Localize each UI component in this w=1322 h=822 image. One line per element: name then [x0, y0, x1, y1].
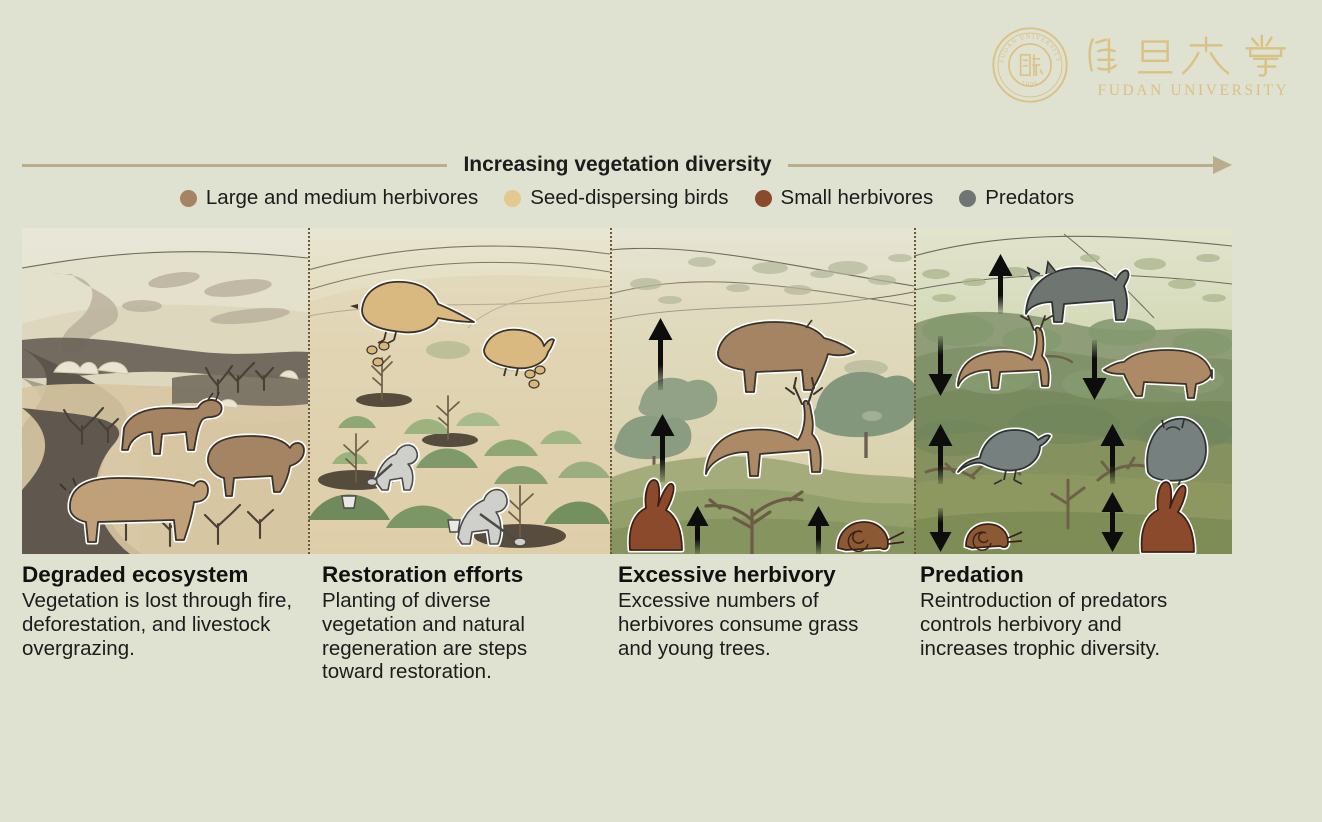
- axis-title: Increasing vegetation diversity: [447, 153, 787, 177]
- caption-predation: Predation Reintroduction of predators co…: [920, 562, 1220, 684]
- caption-body: Reintroduction of predators controls her…: [920, 589, 1192, 660]
- caption-heading: Excessive herbivory: [618, 562, 892, 588]
- panel-degraded-ecosystem: [22, 228, 308, 554]
- legend-label: Seed-dispersing birds: [530, 186, 728, 210]
- caption-restoration-efforts: Restoration efforts Planting of diverse …: [322, 562, 618, 684]
- arrow-head-icon: [1213, 156, 1232, 174]
- legend-item-predators: Predators: [959, 186, 1074, 210]
- panel-excessive-herbivory: [610, 228, 914, 554]
- legend-label: Small herbivores: [781, 186, 934, 210]
- university-english-name: FUDAN UNIVERSITY: [1097, 82, 1289, 100]
- legend-item-small-herbivores: Small herbivores: [755, 186, 934, 210]
- legend-item-seed-dispersing-birds: Seed-dispersing birds: [504, 186, 728, 210]
- panel-captions: Degraded ecosystem Vegetation is lost th…: [22, 562, 1232, 684]
- fudan-seal-icon: FUDAN UNIVERSITY 1905: [991, 26, 1069, 104]
- caption-degraded-ecosystem: Degraded ecosystem Vegetation is lost th…: [22, 562, 322, 684]
- legend-label: Large and medium herbivores: [206, 186, 478, 210]
- legend-item-large-herbivores: Large and medium herbivores: [180, 186, 478, 210]
- vegetation-diversity-axis: Increasing vegetation diversity: [22, 150, 1232, 180]
- caption-heading: Degraded ecosystem: [22, 562, 294, 588]
- chinese-name-glyphs: [1083, 30, 1304, 80]
- caption-body: Planting of diverse vegetation and natur…: [322, 589, 590, 684]
- fudan-wordmark: FUDAN UNIVERSITY: [1083, 30, 1304, 100]
- caption-heading: Restoration efforts: [322, 562, 590, 588]
- panel-divider-2: [610, 228, 612, 554]
- axis-line-left: [22, 164, 447, 167]
- ecosystem-panel-strip: [22, 228, 1232, 554]
- panel-divider-3: [914, 228, 916, 554]
- caption-excessive-herbivory: Excessive herbivory Excessive numbers of…: [618, 562, 920, 684]
- svg-text:1905: 1905: [1020, 79, 1040, 89]
- caption-heading: Predation: [920, 562, 1192, 588]
- legend: Large and medium herbivores Seed-dispers…: [22, 186, 1232, 210]
- legend-label: Predators: [985, 186, 1074, 210]
- legend-dot-icon: [755, 190, 772, 207]
- panel-predation: [914, 228, 1232, 554]
- legend-dot-icon: [180, 190, 197, 207]
- caption-body: Vegetation is lost through fire, defores…: [22, 589, 294, 660]
- legend-dot-icon: [504, 190, 521, 207]
- legend-dot-icon: [959, 190, 976, 207]
- caption-body: Excessive numbers of herbivores consume …: [618, 589, 892, 660]
- panel-restoration-efforts: [308, 228, 610, 554]
- axis-line-right: [788, 164, 1213, 167]
- panel-divider-1: [308, 228, 310, 554]
- fudan-university-logo: FUDAN UNIVERSITY 1905 FUDAN UNIVERSITY: [991, 26, 1304, 104]
